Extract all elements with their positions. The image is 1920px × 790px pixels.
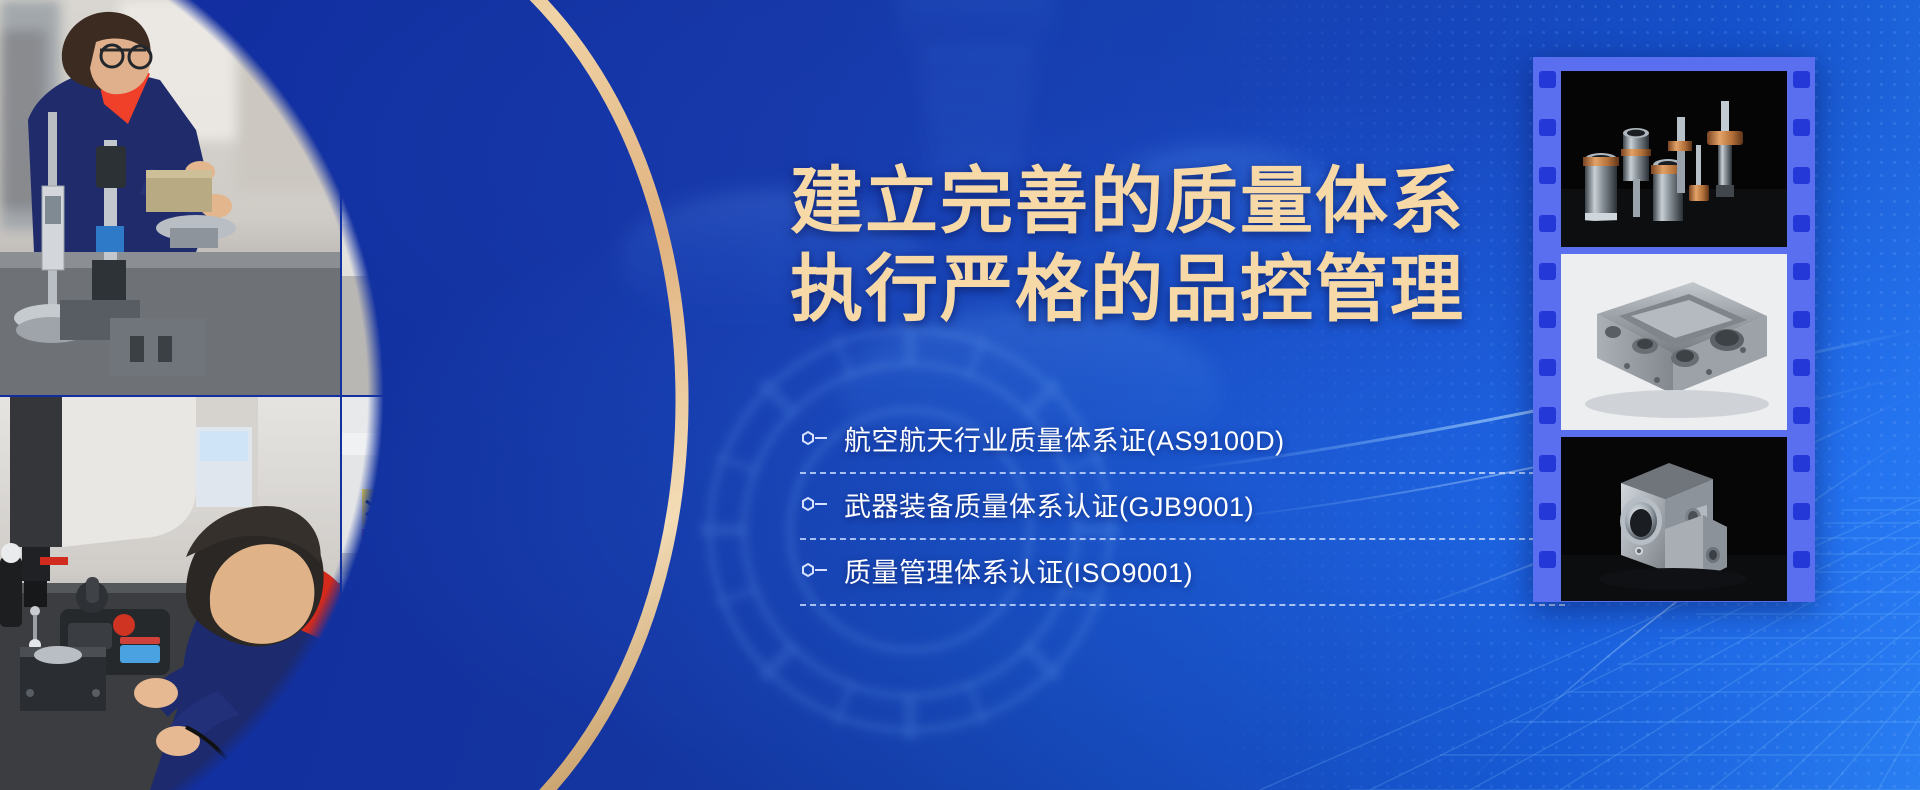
product-photo-bearing-block — [1561, 437, 1787, 601]
sprocket-holes-right — [1787, 57, 1815, 602]
product-photo-precision-shafts — [1561, 71, 1787, 247]
photo-female-operator-measuring — [342, 0, 690, 395]
hexagon-bullet-icon — [800, 429, 830, 447]
photo-collage — [0, 0, 690, 790]
headline-line-1: 建立完善的质量体系 — [790, 158, 1450, 246]
photo-cnc-machine-operator — [342, 397, 690, 790]
certification-list: 航空航天行业质量体系证(AS9100D) 武器装备质量体系认证(GJB9001) — [800, 412, 1440, 610]
photo-cmm-operator — [0, 397, 340, 790]
list-item: 航空航天行业质量体系证(AS9100D) — [800, 412, 1440, 478]
dashed-rule — [800, 472, 1565, 474]
list-item: 质量管理体系认证(ISO9001) — [800, 544, 1440, 610]
photo-height-gauge-inspection — [0, 0, 340, 395]
dashed-rule — [800, 538, 1565, 540]
product-photo-machined-housing — [1561, 254, 1787, 430]
quality-system-banner: 建立完善的质量体系 执行严格的品控管理 航空航天行业质量体系证(AS9100D) — [0, 0, 1920, 790]
hexagon-bullet-icon — [800, 495, 830, 513]
headline-line-2: 执行严格的品控管理 — [790, 246, 1450, 334]
hexagon-bullet-icon — [800, 561, 830, 579]
dashed-rule — [800, 604, 1565, 606]
certification-label: 武器装备质量体系认证(GJB9001) — [844, 485, 1254, 524]
certification-label: 航空航天行业质量体系证(AS9100D) — [844, 419, 1285, 458]
page-title: 建立完善的质量体系 执行严格的品控管理 — [790, 158, 1450, 333]
certification-label: 质量管理体系认证(ISO9001) — [844, 551, 1193, 590]
product-filmstrip — [1533, 57, 1815, 602]
sprocket-holes-left — [1533, 57, 1561, 602]
list-item: 武器装备质量体系认证(GJB9001) — [800, 478, 1440, 544]
